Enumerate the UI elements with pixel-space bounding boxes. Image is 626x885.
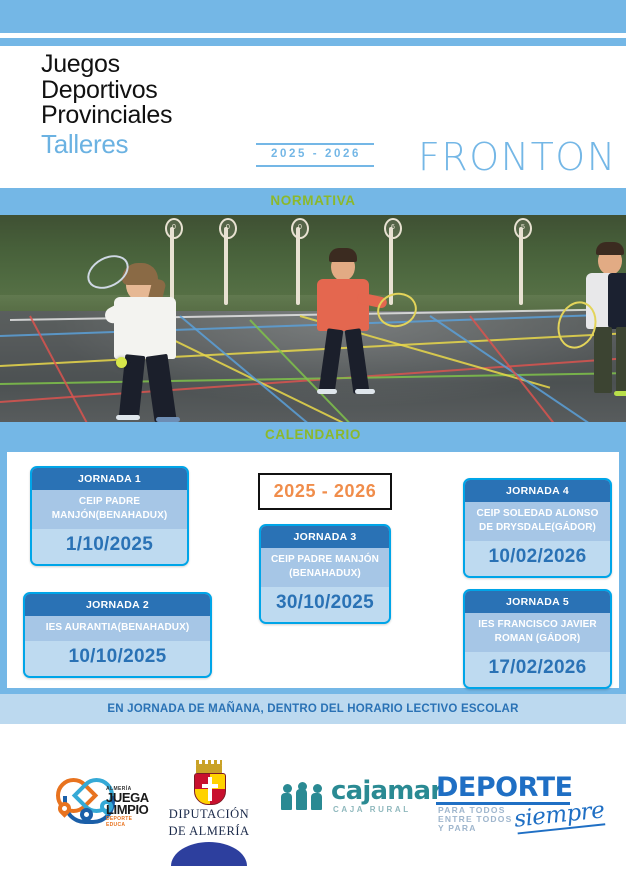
diputacion-arc [171, 842, 247, 866]
player-girl [108, 255, 218, 422]
schedule-note-bar: EN JORNADA DE MAÑANA, DENTRO DEL HORARIO… [0, 694, 626, 724]
jornada-card-2-title: JORNADA 2 [25, 594, 210, 616]
poster-header: Juegos Deportivos Provinciales Talleres … [0, 46, 626, 172]
season-rule-bottom [256, 165, 374, 167]
post-number-5: 5 [514, 218, 532, 239]
jornada-card-1[interactable]: JORNADA 1 CEIP PADRE MANJÓN(BENAHADUX) 1… [30, 466, 189, 566]
schedule-note-text: EN JORNADA DE MAÑANA, DENTRO DEL HORARIO… [107, 703, 518, 715]
juega-limpio-name-2: LIMPIO [106, 804, 149, 816]
diputacion-logo: DIPUTACIÓN DE ALMERÍA [168, 764, 250, 844]
jornada-card-5-title: JORNADA 5 [465, 591, 610, 613]
jornada-card-4-venue: CEIP SOLEDAD ALONSO DE DRYSDALE(GÁDOR) [465, 502, 610, 541]
people-icon [281, 782, 325, 810]
post-number-2: 0 [219, 218, 237, 239]
section-normativa[interactable]: NORMATIVA [0, 188, 626, 215]
jornada-card-3-date: 30/10/2025 [261, 587, 389, 622]
sport-title: FRONTON [418, 135, 617, 179]
brand-line-2: Deportivos [41, 78, 172, 104]
jornada-card-1-title: JORNADA 1 [32, 468, 187, 490]
deporte-subtitle: PARA TODOS ENTRE TODOS Y PARA [438, 806, 512, 833]
poster-page: Juegos Deportivos Provinciales Talleres … [0, 0, 626, 885]
jornada-card-4-title: JORNADA 4 [465, 480, 610, 502]
calendar-section: 2025 - 2026 JORNADA 1 CEIP PADRE MANJÓN(… [0, 448, 626, 694]
jornada-card-5-venue: IES FRANCISCO JAVIER ROMAN (GÁDOR) [465, 613, 610, 652]
brand-line-accent: Talleres [41, 129, 172, 159]
jornada-card-2-date: 10/10/2025 [25, 641, 210, 676]
jornada-card-4-date: 10/02/2026 [465, 541, 610, 576]
deporte-siempre-logo: DEPORTE PARA TODOS ENTRE TODOS Y PARA si… [436, 774, 596, 836]
calendar-panel: 2025 - 2026 JORNADA 1 CEIP PADRE MANJÓN(… [7, 452, 619, 688]
juega-limpio-logo: ALMERÍA JUEGA LIMPIO DEPORTE EDUCA [48, 776, 148, 838]
calendar-season-text: 2025 - 2026 [274, 481, 377, 502]
top-stripe-secondary [0, 38, 626, 46]
section-calendario[interactable]: CALENDARIO [0, 422, 626, 450]
sponsor-logos: ALMERÍA JUEGA LIMPIO DEPORTE EDUCA DIPUT… [0, 728, 626, 885]
jornada-card-4[interactable]: JORNADA 4 CEIP SOLEDAD ALONSO DE DRYSDAL… [463, 478, 612, 578]
jornada-card-5[interactable]: JORNADA 5 IES FRANCISCO JAVIER ROMAN (GÁ… [463, 589, 612, 689]
jornada-card-2-venue: IES AURANTIA(BENAHADUX) [25, 616, 210, 641]
header-season-badge: 2025 - 2026 [256, 143, 374, 167]
post-number-1: 0 [165, 218, 183, 239]
deporte-sub-3: Y PARA [438, 824, 512, 833]
calendar-season-chip: 2025 - 2026 [258, 473, 392, 510]
brand-logo: Juegos Deportivos Provinciales Talleres [41, 52, 172, 159]
post-number-4: 6 [384, 218, 402, 239]
section-normativa-label: NORMATIVA [0, 190, 626, 212]
diputacion-line-1: DIPUTACIÓN [168, 807, 250, 821]
brand-line-1: Juegos [41, 52, 172, 78]
jornada-card-3-venue: CEIP PADRE MANJÓN (BENAHADUX) [261, 548, 389, 587]
brand-line-3: Provinciales [41, 103, 172, 129]
juega-limpio-tag-2: EDUCA [106, 822, 149, 828]
player-boy-right [580, 241, 626, 401]
court-post-2: 0 [224, 227, 228, 305]
player-boy-center [305, 245, 395, 395]
diputacion-line-2: DE ALMERÍA [168, 824, 250, 838]
cajamar-logo: cajamar CAJA RURAL [281, 778, 421, 822]
jornada-card-3[interactable]: JORNADA 3 CEIP PADRE MANJÓN (BENAHADUX) … [259, 524, 391, 624]
hero-photo: 0 0 0 6 5 [0, 215, 626, 422]
ball [116, 357, 127, 368]
court-post-5: 5 [519, 227, 523, 305]
coat-of-arms-icon [192, 764, 226, 804]
court-post-3: 0 [296, 227, 300, 305]
cajamar-sub: CAJA RURAL [333, 805, 411, 814]
jornada-card-5-date: 17/02/2026 [465, 652, 610, 687]
jornada-card-2[interactable]: JORNADA 2 IES AURANTIA(BENAHADUX) 10/10/… [23, 592, 212, 678]
top-stripe-primary [0, 0, 626, 33]
cajamar-name: cajamar [331, 776, 442, 806]
post-number-3: 0 [291, 218, 309, 239]
jornada-card-1-venue: CEIP PADRE MANJÓN(BENAHADUX) [32, 490, 187, 529]
section-calendario-label: CALENDARIO [0, 424, 626, 446]
season-text: 2025 - 2026 [256, 145, 374, 164]
jornada-card-1-date: 1/10/2025 [32, 529, 187, 564]
jornada-card-3-title: JORNADA 3 [261, 526, 389, 548]
